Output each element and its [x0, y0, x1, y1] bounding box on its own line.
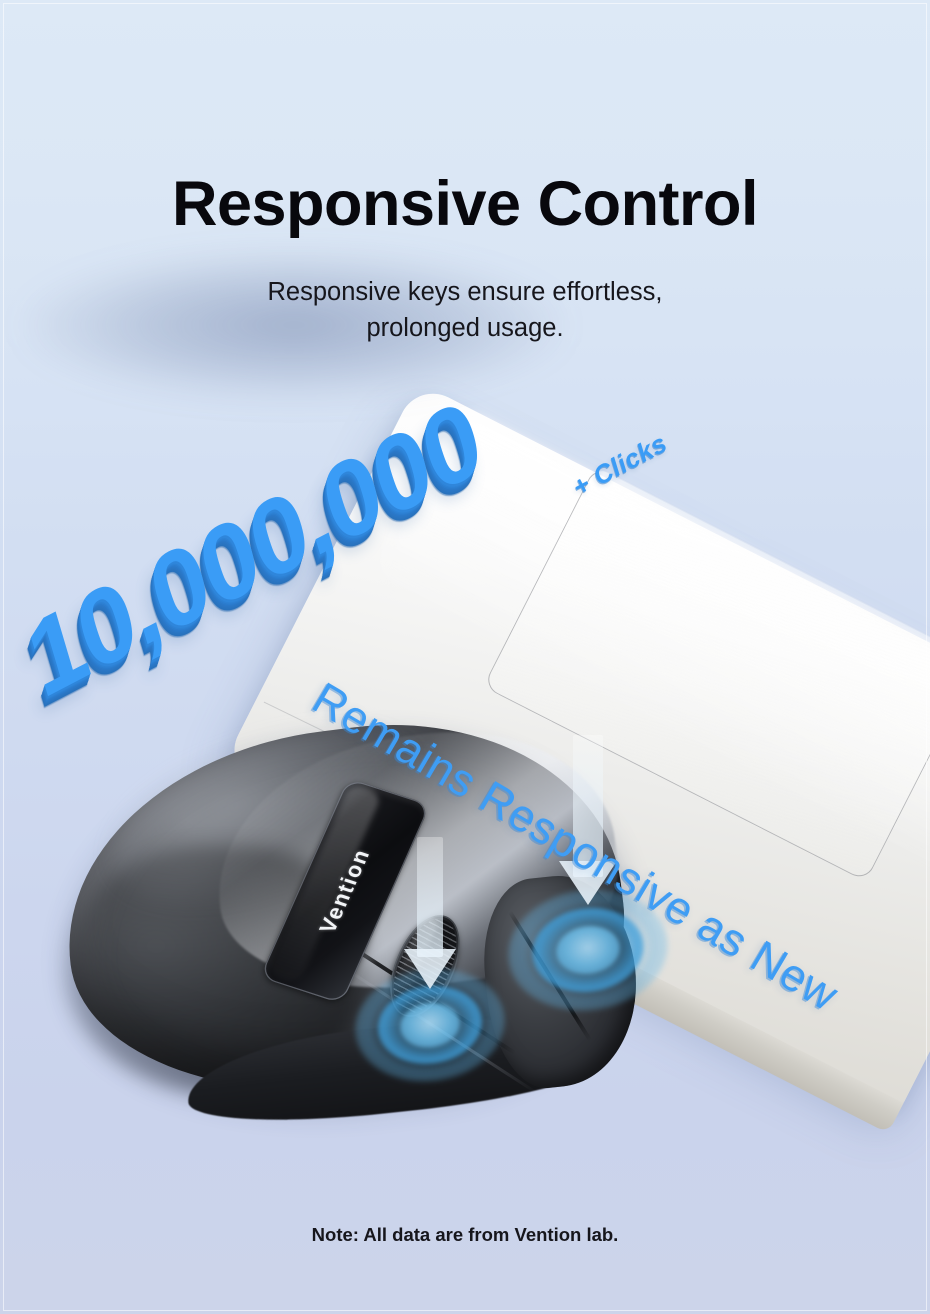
- product-feature-banner: 10,000,000 + Clicks Remains Responsive a…: [0, 0, 930, 1314]
- header-block: Responsive Control Responsive keys ensur…: [0, 0, 930, 346]
- page-title: Responsive Control: [0, 172, 930, 238]
- page-subtitle: Responsive keys ensure effortless,prolon…: [0, 274, 930, 346]
- arrow-down-icon: [404, 949, 456, 989]
- data-source-note: Note: All data are from Vention lab.: [0, 1224, 930, 1246]
- arrow-down-icon-stem: [417, 837, 443, 957]
- left-button-click-ripple: [355, 955, 505, 1095]
